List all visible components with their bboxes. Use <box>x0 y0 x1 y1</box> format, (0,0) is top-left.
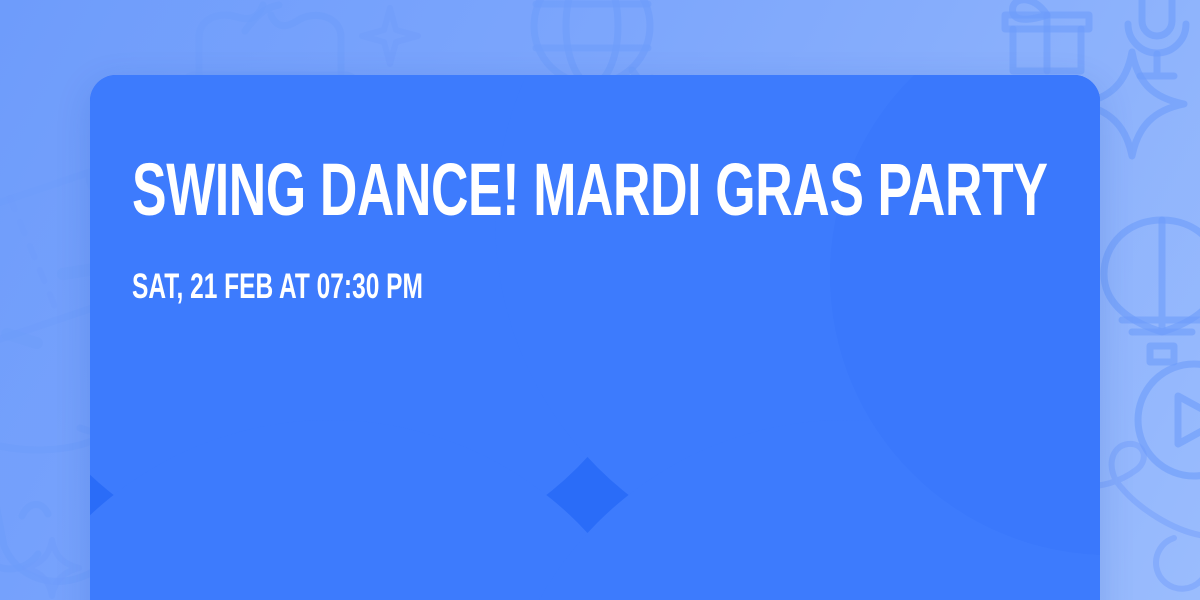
play-circle-icon <box>1138 364 1200 476</box>
sparkle-small-icon <box>25 540 79 596</box>
event-datetime: Sat, 21 Feb at 07:30 PM <box>132 269 664 304</box>
star-burst-icon <box>362 8 418 64</box>
microphone-icon <box>1128 0 1186 76</box>
balloon-icon <box>1104 220 1200 362</box>
event-title: Swing Dance! Mardi Gras Party <box>132 153 1098 227</box>
gift-icon <box>1005 0 1089 71</box>
card-content: Swing Dance! Mardi Gras Party Sat, 21 Fe… <box>90 75 1100 304</box>
event-card[interactable]: Swing Dance! Mardi Gras Party Sat, 21 Fe… <box>90 75 1100 600</box>
card-decoration-circle-bottom-right <box>495 420 1100 600</box>
card-decoration-circle-bottom-left <box>90 420 680 600</box>
event-banner: Swing Dance! Mardi Gras Party Sat, 21 Fe… <box>0 0 1200 600</box>
